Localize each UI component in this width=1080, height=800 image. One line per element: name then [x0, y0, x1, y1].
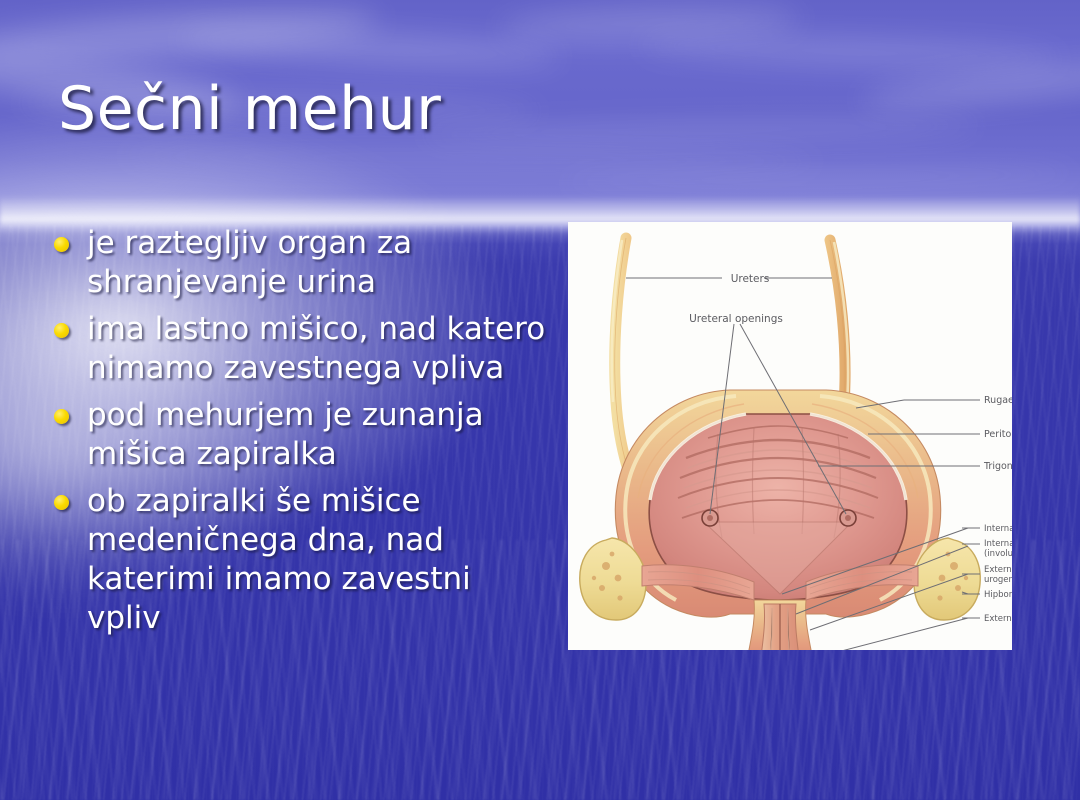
figure-label-involuntary: (involuntary): [984, 549, 1012, 559]
figure-label-internal-urethral-sphincter: Internal urethral sphincter: [984, 539, 1012, 549]
list-item: ima lastno mišico, nad katero nimamo zav…: [54, 310, 554, 388]
figure-label-ureters: Ureters: [731, 273, 770, 285]
slide: Sečni mehur je raztegljiv organ za shran…: [0, 0, 1080, 800]
figure-label-ureteral-openings: Ureteral openings: [689, 313, 783, 325]
bullet-dot-icon: [54, 495, 69, 510]
list-item: je raztegljiv organ za shranjevanje urin…: [54, 224, 554, 302]
list-item-label: ima lastno mišico, nad katero nimamo zav…: [87, 310, 554, 388]
figure-label-hipbone-pubis: Hipbone (pubis): [984, 590, 1012, 600]
figure-label-urogenital-diaphragm: urogenital diaphragm (voluntary): [984, 575, 1012, 585]
list-item-label: je raztegljiv organ za shranjevanje urin…: [87, 224, 554, 302]
urethra-illustration: [746, 600, 814, 650]
anatomy-figure-bladder: Ureters Ureteral openings Rugae of mucos…: [568, 222, 1012, 650]
figure-label-external-urethral-orifice: External urethral orifice: [984, 614, 1012, 624]
figure-label-peritoneum: Peritoneum: [984, 429, 1012, 440]
page-title: Sečni mehur: [58, 78, 441, 141]
bullet-list: je raztegljiv organ za shranjevanje urin…: [54, 224, 554, 646]
list-item: ob zapiralki še mišice medeničnega dna, …: [54, 482, 554, 638]
figure-label-internal-urethral-orifice: Internal urethral orifice: [984, 524, 1012, 534]
bullet-dot-icon: [54, 409, 69, 424]
figure-label-trigone: Trigone: [983, 461, 1012, 472]
bullet-dot-icon: [54, 323, 69, 338]
list-item-label: pod mehurjem je zunanja mišica zapiralka: [87, 396, 554, 474]
bullet-dot-icon: [54, 237, 69, 252]
list-item-label: ob zapiralki še mišice medeničnega dna, …: [87, 482, 554, 638]
ureteral-opening-right-icon: [840, 510, 856, 526]
figure-label-external-urethral-sphincter: External urethral sphincter in: [984, 565, 1012, 575]
figure-label-rugae-of-mucosa: Rugae of mucosa: [984, 395, 1012, 406]
list-item: pod mehurjem je zunanja mišica zapiralka: [54, 396, 554, 474]
